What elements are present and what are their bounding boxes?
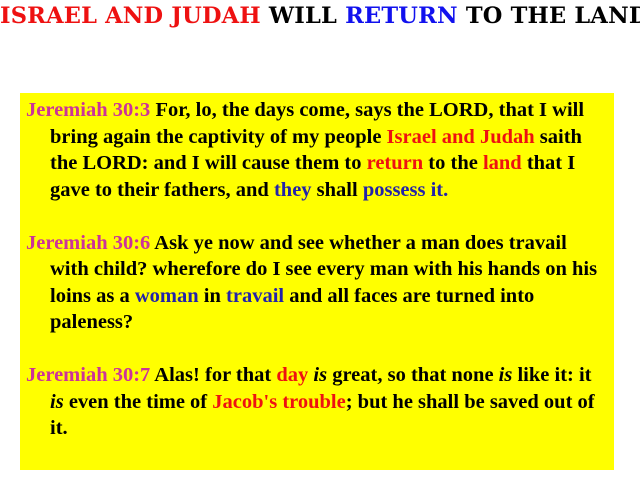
- slide-title: ISRAEL AND JUDAH WILL RETURN TO THE LAND…: [0, 2, 640, 30]
- title-run: WILL: [261, 3, 345, 29]
- title-run: RETURN: [345, 3, 458, 29]
- verse-text-run: in: [199, 285, 226, 307]
- verse-text-run: is: [313, 364, 327, 386]
- verse-jeremiah-30-6: Jeremiah 30:6 Ask ye now and see whether…: [26, 230, 606, 336]
- verse-text-run: possess it.: [363, 179, 448, 201]
- verse-text-run: to the: [423, 152, 483, 174]
- verse-text-run: great, so that none: [327, 364, 499, 386]
- verse-text-run: Alas! for that: [150, 364, 276, 386]
- verse-text-run: Jacob's trouble: [212, 391, 345, 413]
- verse-text-run: day: [276, 364, 308, 386]
- verse-jeremiah-30-3: Jeremiah 30:3 For, lo, the days come, sa…: [26, 97, 606, 203]
- verse-jeremiah-30-7: Jeremiah 30:7 Alas! for that day is grea…: [26, 362, 606, 442]
- verse-text-run: return: [367, 152, 424, 174]
- verse-text-run: Jeremiah 30:3: [26, 99, 150, 121]
- verse-text-run: is: [50, 391, 64, 413]
- scripture-panel: Jeremiah 30:3 For, lo, the days come, sa…: [20, 93, 614, 470]
- verse-text-run: travail: [226, 285, 284, 307]
- verse-text-run: is: [499, 364, 513, 386]
- verse-text-run: even the time of: [64, 391, 213, 413]
- verse-text-run: land: [483, 152, 522, 174]
- verse-text-run: like it: it: [512, 364, 596, 386]
- verse-text-run: shall: [312, 179, 363, 201]
- title-run: ISRAEL AND JUDAH: [0, 3, 261, 29]
- verse-text-run: Israel and Judah: [387, 126, 535, 148]
- verse-text-run: woman: [135, 285, 199, 307]
- title-run: TO THE LAND OF: [458, 3, 640, 29]
- verse-text-run: they: [274, 179, 312, 201]
- verse-text-run: Jeremiah 30:7: [26, 364, 150, 386]
- verse-text-run: Jeremiah 30:6: [26, 232, 150, 254]
- slide-canvas: ISRAEL AND JUDAH WILL RETURN TO THE LAND…: [0, 0, 640, 480]
